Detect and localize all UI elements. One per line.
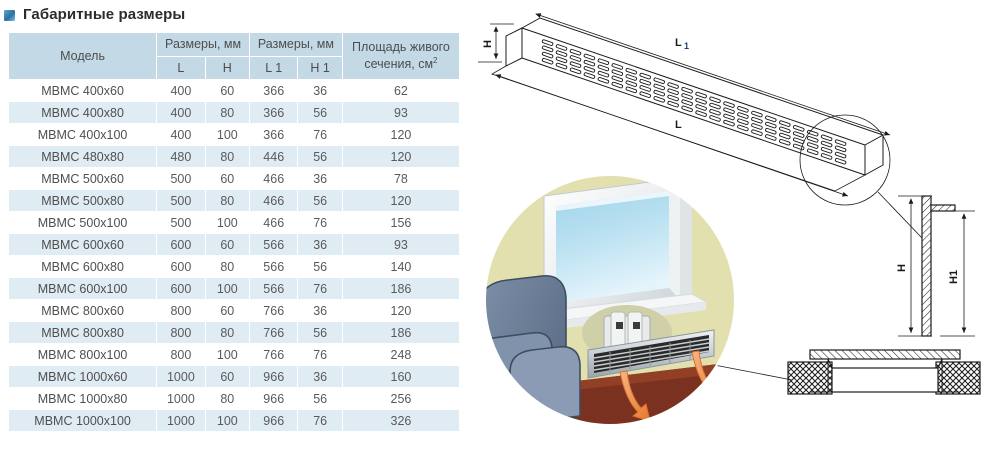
- cell-h1: 56: [298, 102, 341, 123]
- louver-slot: [821, 153, 832, 159]
- cell-h1: 76: [298, 212, 341, 233]
- cell-area: 156: [343, 212, 459, 233]
- louver-slot: [709, 97, 720, 103]
- cell-area: 93: [343, 234, 459, 255]
- cell-l: 1000: [157, 366, 204, 387]
- louver-slot: [709, 109, 720, 115]
- cell-l: 600: [157, 256, 204, 277]
- louver-slot: [542, 52, 553, 58]
- cell-h: 100: [206, 124, 249, 145]
- model: МВМС 600x80: [9, 256, 156, 277]
- cell-h: 80: [206, 102, 249, 123]
- louver-slot: [556, 57, 567, 63]
- table-row: МВМС 800x10080010076676248: [9, 344, 459, 365]
- louver-slot: [584, 60, 595, 66]
- column-header-group-lh: Размеры, мм: [157, 33, 249, 56]
- louver-slot: [598, 77, 609, 83]
- drawings-svg: H L 1 L: [470, 0, 1001, 464]
- cell-l: 600: [157, 278, 204, 299]
- section-title: Габаритные размеры: [4, 6, 185, 23]
- cell-area: 160: [343, 366, 459, 387]
- cell-l: 800: [157, 322, 204, 343]
- cell-area: 256: [343, 388, 459, 409]
- louver-slot: [556, 50, 567, 56]
- louver-slot: [709, 115, 720, 121]
- louver-slot: [723, 114, 734, 120]
- cell-l: 500: [157, 190, 204, 211]
- cell-l: 480: [157, 146, 204, 167]
- louver-slot: [821, 135, 832, 141]
- cell-l: 400: [157, 102, 204, 123]
- louver-slot: [681, 99, 692, 105]
- page-root: Габаритные размеры Модель Размеры, мм Ра…: [0, 0, 1001, 464]
- cell-h: 80: [206, 322, 249, 343]
- louver-slot: [667, 95, 678, 101]
- louver-slot: [653, 90, 664, 96]
- cell-h: 80: [206, 388, 249, 409]
- louver-slot: [821, 141, 832, 147]
- cell-l1: 566: [250, 234, 297, 255]
- louver-slot: [542, 39, 553, 45]
- louver-slot: [667, 82, 678, 88]
- column-header-group-l1h1: Размеры, мм: [250, 33, 342, 56]
- table-row: МВМС 800x608006076636120: [9, 300, 459, 321]
- cell-h: 60: [206, 366, 249, 387]
- louver-slot: [751, 117, 762, 123]
- louver-slot: [779, 127, 790, 133]
- drawings-pane: H L 1 L: [470, 0, 1001, 464]
- louver-slot: [639, 91, 650, 97]
- model: МВМС 1000x80: [9, 388, 156, 409]
- dimension-h: H: [478, 24, 514, 62]
- cell-h1: 56: [298, 388, 341, 409]
- side-cross-section-drawing: H H1: [896, 196, 975, 336]
- detail-circle: [800, 115, 890, 205]
- cell-h1: 36: [298, 300, 341, 321]
- column-header-area-superscript: 2: [433, 56, 437, 65]
- table-row: МВМС 400x10040010036676120: [9, 124, 459, 145]
- louver-slot: [793, 125, 804, 131]
- room-installation-illustration: [478, 175, 735, 432]
- cell-l: 400: [157, 80, 204, 101]
- model: МВМС 400x100: [9, 124, 156, 145]
- model: МВМС 800x100: [9, 344, 156, 365]
- table-row: МВМС 480x804808044656120: [9, 146, 459, 167]
- column-header-area: Площадь живого сечения, см2: [343, 33, 459, 79]
- table-pane: Габаритные размеры Модель Размеры, мм Ра…: [0, 0, 470, 464]
- model: МВМС 600x60: [9, 234, 156, 255]
- cell-h1: 76: [298, 344, 341, 365]
- dimension-label-l1-sub: 1: [684, 41, 689, 51]
- table-row: МВМС 500x10050010046676156: [9, 212, 459, 233]
- louver-slot: [667, 101, 678, 107]
- louver-slot: [626, 80, 637, 86]
- louver-slot: [807, 142, 818, 148]
- louver-slot: [723, 108, 734, 114]
- louver-slot: [626, 68, 637, 74]
- cell-l1: 766: [250, 300, 297, 321]
- dimension-l1: L 1: [536, 14, 890, 135]
- louver-slot: [612, 63, 623, 69]
- page-title: Габаритные размеры: [23, 6, 185, 23]
- cell-l1: 366: [250, 80, 297, 101]
- louver-slot: [695, 104, 706, 110]
- cell-h: 100: [206, 212, 249, 233]
- plan-cross-section-drawing: [678, 350, 980, 394]
- louver-slot: [807, 136, 818, 142]
- louver-slot: [598, 59, 609, 65]
- louver-slot: [598, 71, 609, 77]
- louver-slot: [737, 106, 748, 112]
- cell-l1: 446: [250, 146, 297, 167]
- cell-h1: 56: [298, 190, 341, 211]
- cell-l1: 966: [250, 410, 297, 431]
- louver-slot: [681, 87, 692, 93]
- cell-h: 60: [206, 300, 249, 321]
- louver-slot: [542, 46, 553, 52]
- louver-slot: [709, 103, 720, 109]
- model: МВМС 1000x100: [9, 410, 156, 431]
- louver-slot: [653, 78, 664, 84]
- model: МВМС 500x80: [9, 190, 156, 211]
- louver-slot: [639, 79, 650, 85]
- table-header-row-1: Модель Размеры, мм Размеры, мм Площадь ж…: [9, 33, 459, 56]
- louver-slot: [779, 120, 790, 126]
- louver-slot: [612, 76, 623, 82]
- blue-square-bullet-icon: [4, 10, 15, 21]
- cell-l1: 466: [250, 212, 297, 233]
- louver-slot: [653, 96, 664, 102]
- louver-slot: [751, 111, 762, 117]
- model: МВМС 400x80: [9, 102, 156, 123]
- table-row: МВМС 1000x100100010096676326: [9, 410, 459, 431]
- louver-slot: [695, 98, 706, 104]
- louver-slot: [639, 73, 650, 79]
- table-row: МВМС 600x10060010056676186: [9, 278, 459, 299]
- cell-h: 100: [206, 278, 249, 299]
- louver-slot: [835, 152, 846, 158]
- column-header-area-line1: Площадь живого: [352, 40, 450, 54]
- table-row: МВМС 1000x6010006096636160: [9, 366, 459, 387]
- cell-area: 140: [343, 256, 459, 277]
- louver-slot: [681, 93, 692, 99]
- louver-slot: [695, 92, 706, 98]
- table-body: МВМС 400x60400603663662МВМС 400x80400803…: [9, 80, 459, 431]
- louver-slot: [667, 89, 678, 95]
- cell-h1: 76: [298, 410, 341, 431]
- table-row: МВМС 800x808008076656186: [9, 322, 459, 343]
- cell-h1: 36: [298, 366, 341, 387]
- column-header-l1: L 1: [250, 57, 297, 80]
- dimension-label-l: L: [675, 119, 682, 131]
- louver-slot: [570, 61, 581, 67]
- dimension-label-h: H: [482, 40, 494, 48]
- louver-slot: [779, 133, 790, 139]
- model: МВМС 480x80: [9, 146, 156, 167]
- cell-area: 120: [343, 190, 459, 211]
- louver-slot: [542, 58, 553, 64]
- model: МВМС 800x60: [9, 300, 156, 321]
- louver-slots: [542, 39, 846, 164]
- model: МВМС 500x100: [9, 212, 156, 233]
- louver-slot: [584, 72, 595, 78]
- model: МВМС 1000x60: [9, 366, 156, 387]
- cell-l1: 966: [250, 366, 297, 387]
- cell-area: 78: [343, 168, 459, 189]
- cell-h: 100: [206, 410, 249, 431]
- louver-slot: [765, 128, 776, 134]
- louver-slot: [723, 101, 734, 107]
- cell-l1: 966: [250, 388, 297, 409]
- louver-slot: [765, 122, 776, 128]
- cell-area: 186: [343, 278, 459, 299]
- column-header-area-line2: сечения, см: [364, 57, 433, 71]
- table-row: МВМС 1000x8010008096656256: [9, 388, 459, 409]
- louver-slot: [793, 138, 804, 144]
- cell-area: 326: [343, 410, 459, 431]
- louver-slot: [570, 55, 581, 61]
- cell-l: 1000: [157, 410, 204, 431]
- cell-l: 400: [157, 124, 204, 145]
- cell-l: 500: [157, 212, 204, 233]
- louver-slot: [570, 68, 581, 74]
- louver-slot: [612, 82, 623, 88]
- cell-l1: 466: [250, 190, 297, 211]
- table-row: МВМС 500x805008046656120: [9, 190, 459, 211]
- cell-h1: 36: [298, 80, 341, 101]
- leader-line-side-section: [878, 192, 922, 238]
- cell-l: 600: [157, 234, 204, 255]
- model: МВМС 600x100: [9, 278, 156, 299]
- louver-slot: [598, 65, 609, 71]
- cell-h: 60: [206, 234, 249, 255]
- cell-l1: 366: [250, 102, 297, 123]
- cell-area: 120: [343, 124, 459, 145]
- cell-l1: 566: [250, 256, 297, 277]
- louver-slot: [835, 158, 846, 164]
- louver-slot: [737, 125, 748, 131]
- louver-slot: [626, 87, 637, 93]
- louver-slot: [626, 74, 637, 80]
- cell-h1: 56: [298, 256, 341, 277]
- cell-area: 120: [343, 146, 459, 167]
- model: МВМС 800x80: [9, 322, 156, 343]
- cell-h1: 36: [298, 168, 341, 189]
- cell-area: 93: [343, 102, 459, 123]
- cell-h: 80: [206, 190, 249, 211]
- cell-area: 186: [343, 322, 459, 343]
- cell-l: 500: [157, 168, 204, 189]
- dimension-label-l1: L: [675, 37, 682, 49]
- cell-l1: 766: [250, 322, 297, 343]
- table-header: Модель Размеры, мм Размеры, мм Площадь ж…: [9, 33, 459, 79]
- cell-l: 1000: [157, 388, 204, 409]
- louver-slot: [821, 147, 832, 153]
- sofa: [478, 276, 580, 432]
- louver-slot: [737, 112, 748, 118]
- cell-h1: 76: [298, 278, 341, 299]
- table-row: МВМС 600x806008056656140: [9, 256, 459, 277]
- cell-h: 60: [206, 168, 249, 189]
- cell-area: 62: [343, 80, 459, 101]
- louver-slot: [751, 129, 762, 135]
- cell-l1: 566: [250, 278, 297, 299]
- louver-slot: [793, 131, 804, 137]
- cell-l1: 466: [250, 168, 297, 189]
- cell-h1: 56: [298, 146, 341, 167]
- model: МВМС 500x60: [9, 168, 156, 189]
- louver-slot: [765, 134, 776, 140]
- table-row: МВМС 400x60400603663662: [9, 80, 459, 101]
- dimension-label-h-section: H: [896, 264, 908, 272]
- dimensions-table: Модель Размеры, мм Размеры, мм Площадь ж…: [8, 32, 460, 432]
- cell-l: 800: [157, 344, 204, 365]
- louver-slot: [835, 139, 846, 145]
- louver-slot: [584, 66, 595, 72]
- table-row: МВМС 600x60600605663693: [9, 234, 459, 255]
- louver-slot: [765, 116, 776, 122]
- louver-slot: [807, 149, 818, 155]
- louver-slot: [779, 139, 790, 145]
- louver-slot: [695, 110, 706, 116]
- cell-h: 80: [206, 146, 249, 167]
- louver-slot: [639, 85, 650, 91]
- column-header-h1: H 1: [298, 57, 341, 80]
- louver-slot: [570, 49, 581, 55]
- cell-l1: 366: [250, 124, 297, 145]
- model: МВМС 400x60: [9, 80, 156, 101]
- louver-slot: [723, 120, 734, 126]
- table-row: МВМС 400x80400803665693: [9, 102, 459, 123]
- louver-slot: [556, 44, 567, 50]
- cell-l: 800: [157, 300, 204, 321]
- louver-slot: [681, 106, 692, 112]
- louver-slot: [737, 119, 748, 125]
- cell-h: 80: [206, 256, 249, 277]
- cell-h1: 76: [298, 124, 341, 145]
- louver-slot: [584, 54, 595, 60]
- cell-l1: 766: [250, 344, 297, 365]
- louver-slot: [835, 146, 846, 152]
- cell-h1: 56: [298, 322, 341, 343]
- cell-h: 100: [206, 344, 249, 365]
- louver-slot: [556, 63, 567, 69]
- louver-slot: [612, 69, 623, 75]
- cell-area: 120: [343, 300, 459, 321]
- column-header-model: Модель: [9, 33, 156, 79]
- cell-h: 60: [206, 80, 249, 101]
- cell-area: 248: [343, 344, 459, 365]
- column-header-h: H: [206, 57, 249, 80]
- table-row: МВМС 500x60500604663678: [9, 168, 459, 189]
- louver-slot: [653, 84, 664, 90]
- cell-h1: 36: [298, 234, 341, 255]
- column-header-l: L: [157, 57, 204, 80]
- louver-slot: [751, 123, 762, 129]
- dimension-label-h1-section: H1: [948, 270, 960, 284]
